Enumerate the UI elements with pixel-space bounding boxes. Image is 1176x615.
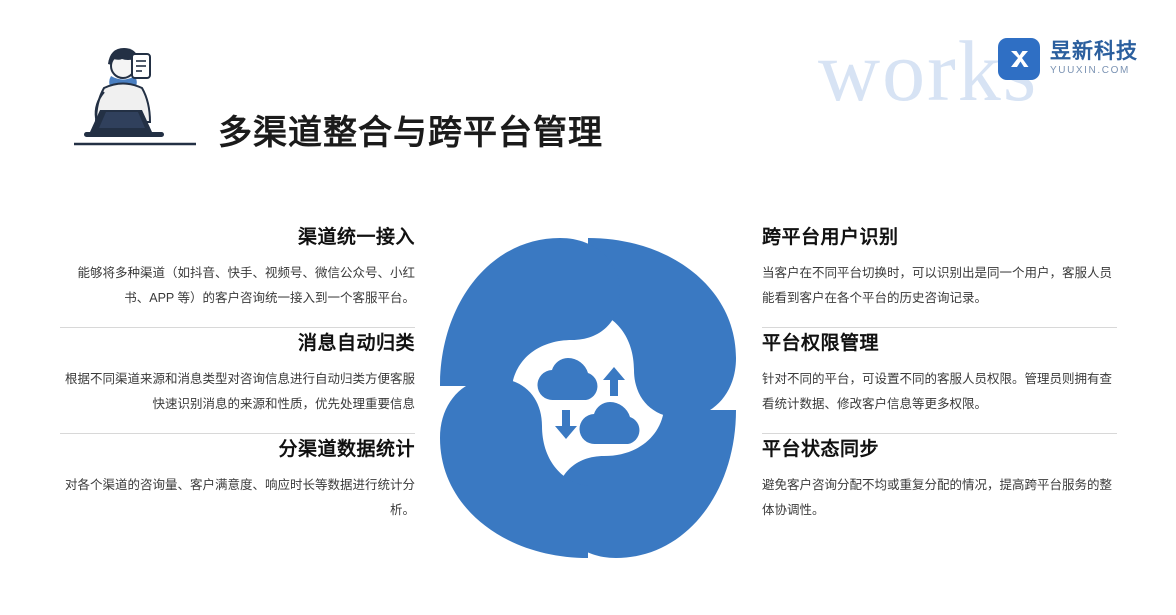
feature-title: 分渠道数据统计 <box>60 434 415 461</box>
feature-item: 跨平台用户识别 当客户在不同平台切换时，可以识别出是同一个用户，客服人员能看到客… <box>762 222 1117 327</box>
feature-title: 消息自动归类 <box>60 328 415 355</box>
feature-item: 平台状态同步 避免客户咨询分配不均或重复分配的情况，提高跨平台服务的整体协调性。 <box>762 434 1117 539</box>
feature-description: 能够将多种渠道（如抖音、快手、视频号、微信公众号、小红书、APP 等）的客户咨询… <box>60 261 415 311</box>
feature-description: 当客户在不同平台切换时，可以识别出是同一个用户，客服人员能看到客户在各个平台的历… <box>762 261 1117 311</box>
left-feature-column: 渠道统一接入 能够将多种渠道（如抖音、快手、视频号、微信公众号、小红书、APP … <box>60 222 415 539</box>
x-logo-icon <box>998 38 1040 80</box>
title-block: 多渠道整合与跨平台管理 <box>218 82 603 177</box>
page-title: 多渠道整合与跨平台管理 <box>218 105 603 154</box>
feature-item: 平台权限管理 针对不同的平台，可设置不同的客服人员权限。管理员则拥有查看统计数据… <box>762 328 1117 433</box>
brand-text: 昱新科技 YUUXIN.COM <box>1050 41 1138 77</box>
feature-description: 避免客户咨询分配不均或重复分配的情况，提高跨平台服务的整体协调性。 <box>762 473 1117 523</box>
feature-item: 渠道统一接入 能够将多种渠道（如抖音、快手、视频号、微信公众号、小红书、APP … <box>60 222 415 327</box>
brand-domain: YUUXIN.COM <box>1050 66 1138 77</box>
page-header: works 多渠道整合与跨平台管理 <box>0 0 1176 180</box>
feature-title: 平台权限管理 <box>762 328 1117 355</box>
feature-description: 对各个渠道的咨询量、客户满意度、响应时长等数据进行统计分析。 <box>60 473 415 523</box>
right-feature-column: 跨平台用户识别 当客户在不同平台切换时，可以识别出是同一个用户，客服人员能看到客… <box>762 222 1117 539</box>
cloud-sync-icon <box>537 358 639 444</box>
cloud-sync-pinwheel-graphic <box>420 218 756 578</box>
feature-item: 消息自动归类 根据不同渠道来源和消息类型对咨询信息进行自动归类方便客服快速识别消… <box>60 328 415 433</box>
brand-logo: 昱新科技 YUUXIN.COM <box>998 38 1138 80</box>
person-laptop-illustration <box>70 36 200 156</box>
feature-description: 根据不同渠道来源和消息类型对咨询信息进行自动归类方便客服快速识别消息的来源和性质… <box>60 367 415 417</box>
feature-item: 分渠道数据统计 对各个渠道的咨询量、客户满意度、响应时长等数据进行统计分析。 <box>60 434 415 539</box>
brand-name: 昱新科技 <box>1050 41 1138 63</box>
feature-title: 平台状态同步 <box>762 434 1117 461</box>
feature-title: 渠道统一接入 <box>60 222 415 249</box>
feature-title: 跨平台用户识别 <box>762 222 1117 249</box>
feature-description: 针对不同的平台，可设置不同的客服人员权限。管理员则拥有查看统计数据、修改客户信息… <box>762 367 1117 417</box>
